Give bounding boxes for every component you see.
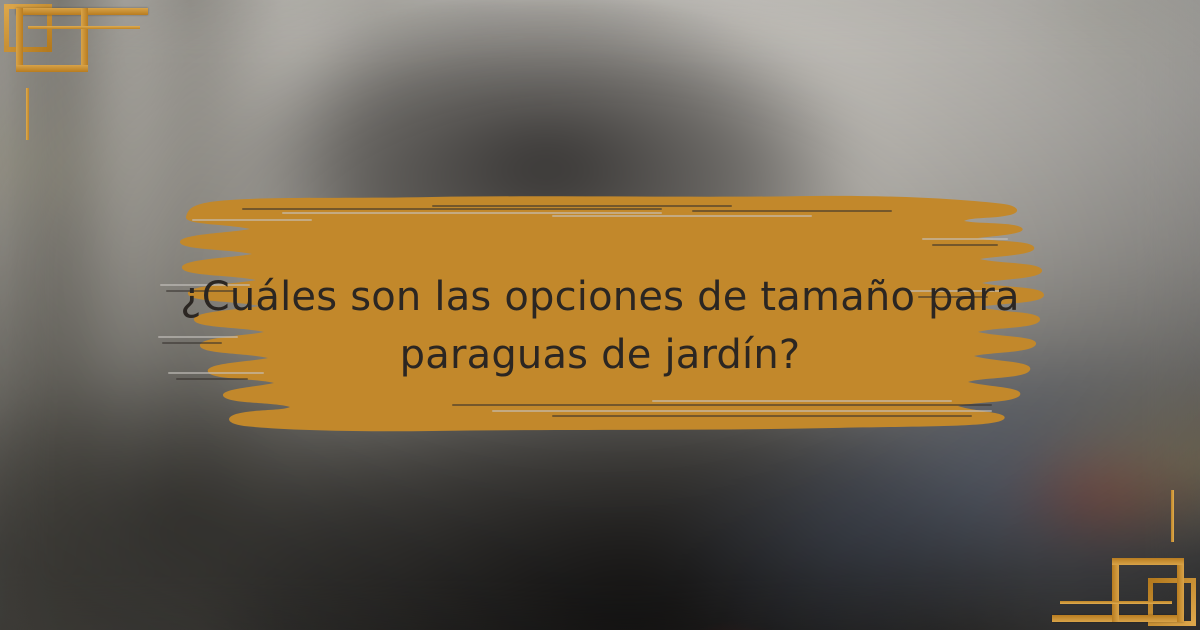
corner-ornament-top-left — [0, 0, 160, 150]
ornament-elbow-horizontal — [16, 65, 88, 72]
ornament-line-horizontal — [1060, 601, 1172, 604]
ornament-bar-vertical — [16, 8, 23, 72]
ornament-elbow-horizontal — [1112, 558, 1184, 565]
quote-card: ¿Cuáles son las opciones de tamaño para … — [0, 0, 1200, 630]
page-title: ¿Cuáles son las opciones de tamaño para … — [0, 268, 1200, 384]
ornament-elbow-vertical — [1112, 558, 1119, 622]
ornament-line-horizontal — [28, 26, 140, 29]
ornament-bar-vertical — [1177, 558, 1184, 622]
ornament-line-vertical — [1171, 490, 1174, 542]
corner-ornament-bottom-right — [1040, 480, 1200, 630]
ornament-elbow-vertical — [81, 8, 88, 72]
ornament-line-vertical — [26, 88, 29, 140]
